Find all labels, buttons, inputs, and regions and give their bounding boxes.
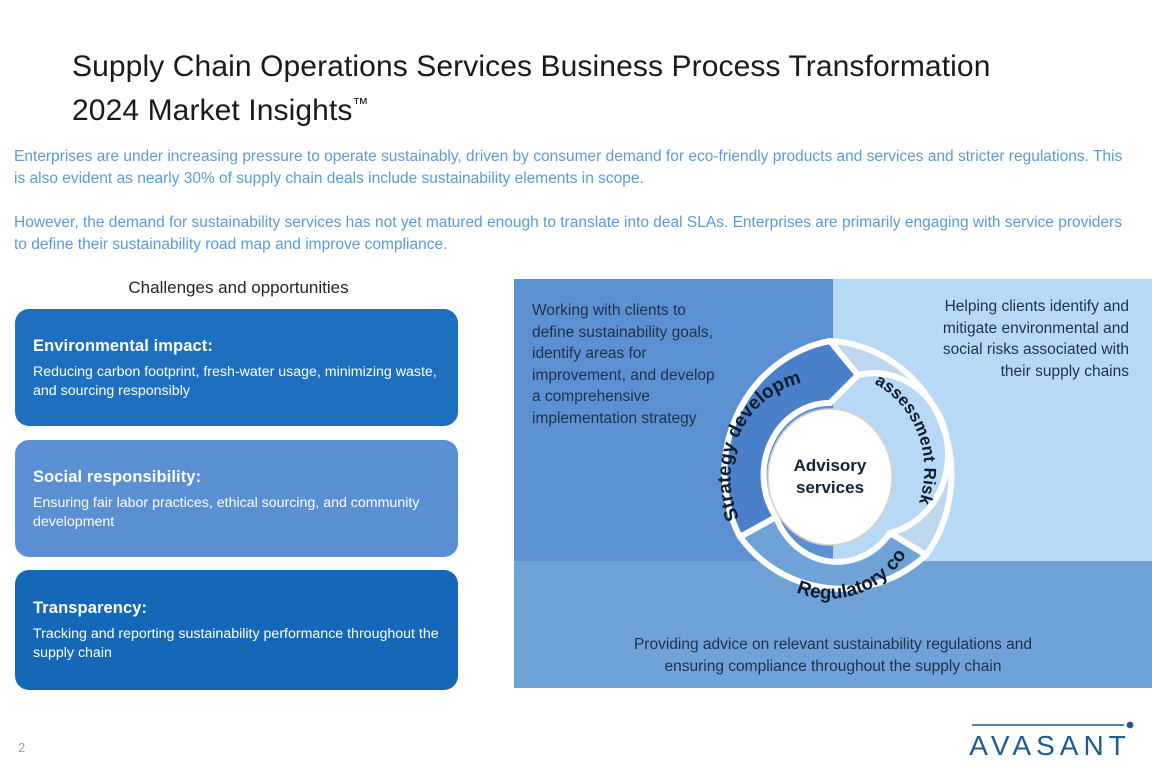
card-body: Reducing carbon footprint, fresh-water u… <box>33 363 440 401</box>
challenges-heading: Challenges and opportunities <box>15 278 462 298</box>
page-title: Supply Chain Operations Services Busines… <box>72 48 1082 130</box>
callout-regulatory-compliance: Providing advice on relevant sustainabil… <box>514 634 1152 678</box>
card-body: Tracking and reporting sustainability pe… <box>33 625 440 663</box>
card-social-responsibility: Social responsibility: Ensuring fair lab… <box>15 440 458 557</box>
page-title-line2: 2024 Market Insights <box>72 94 352 127</box>
card-title: Transparency: <box>33 599 440 618</box>
card-transparency: Transparency: Tracking and reporting sus… <box>15 570 458 690</box>
logo-dot <box>1127 722 1134 729</box>
callout-bottom-line1: Providing advice on relevant sustainabil… <box>634 636 1032 653</box>
center-label: Advisory services <box>765 455 895 499</box>
card-environmental-impact: Environmental impact: Reducing carbon fo… <box>15 309 458 426</box>
card-title: Social responsibility: <box>33 468 440 487</box>
page-title-line1: Supply Chain Operations Services Busines… <box>72 50 990 83</box>
intro-paragraph-1: Enterprises are under increasing pressur… <box>14 146 1134 190</box>
page-number: 2 <box>18 740 25 755</box>
trademark-symbol: ™ <box>352 96 368 113</box>
card-body: Ensuring fair labor practices, ethical s… <box>33 494 440 532</box>
center-label-line1: Advisory <box>794 456 867 475</box>
intro-paragraph-2: However, the demand for sustainability s… <box>14 212 1134 256</box>
slide-root: Supply Chain Operations Services Busines… <box>0 0 1152 768</box>
avasant-logo: AVASANT <box>962 714 1138 764</box>
logo-wordmark: AVASANT <box>969 730 1131 761</box>
center-label-line2: services <box>796 478 864 497</box>
advisory-cycle-diagram: Strategy development assessment Risk Reg… <box>690 329 970 625</box>
callout-bottom-line2: ensuring compliance throughout the suppl… <box>665 658 1002 675</box>
card-title: Environmental impact: <box>33 337 440 356</box>
advisory-services-panel: Working with clients to define sustainab… <box>514 279 1152 688</box>
